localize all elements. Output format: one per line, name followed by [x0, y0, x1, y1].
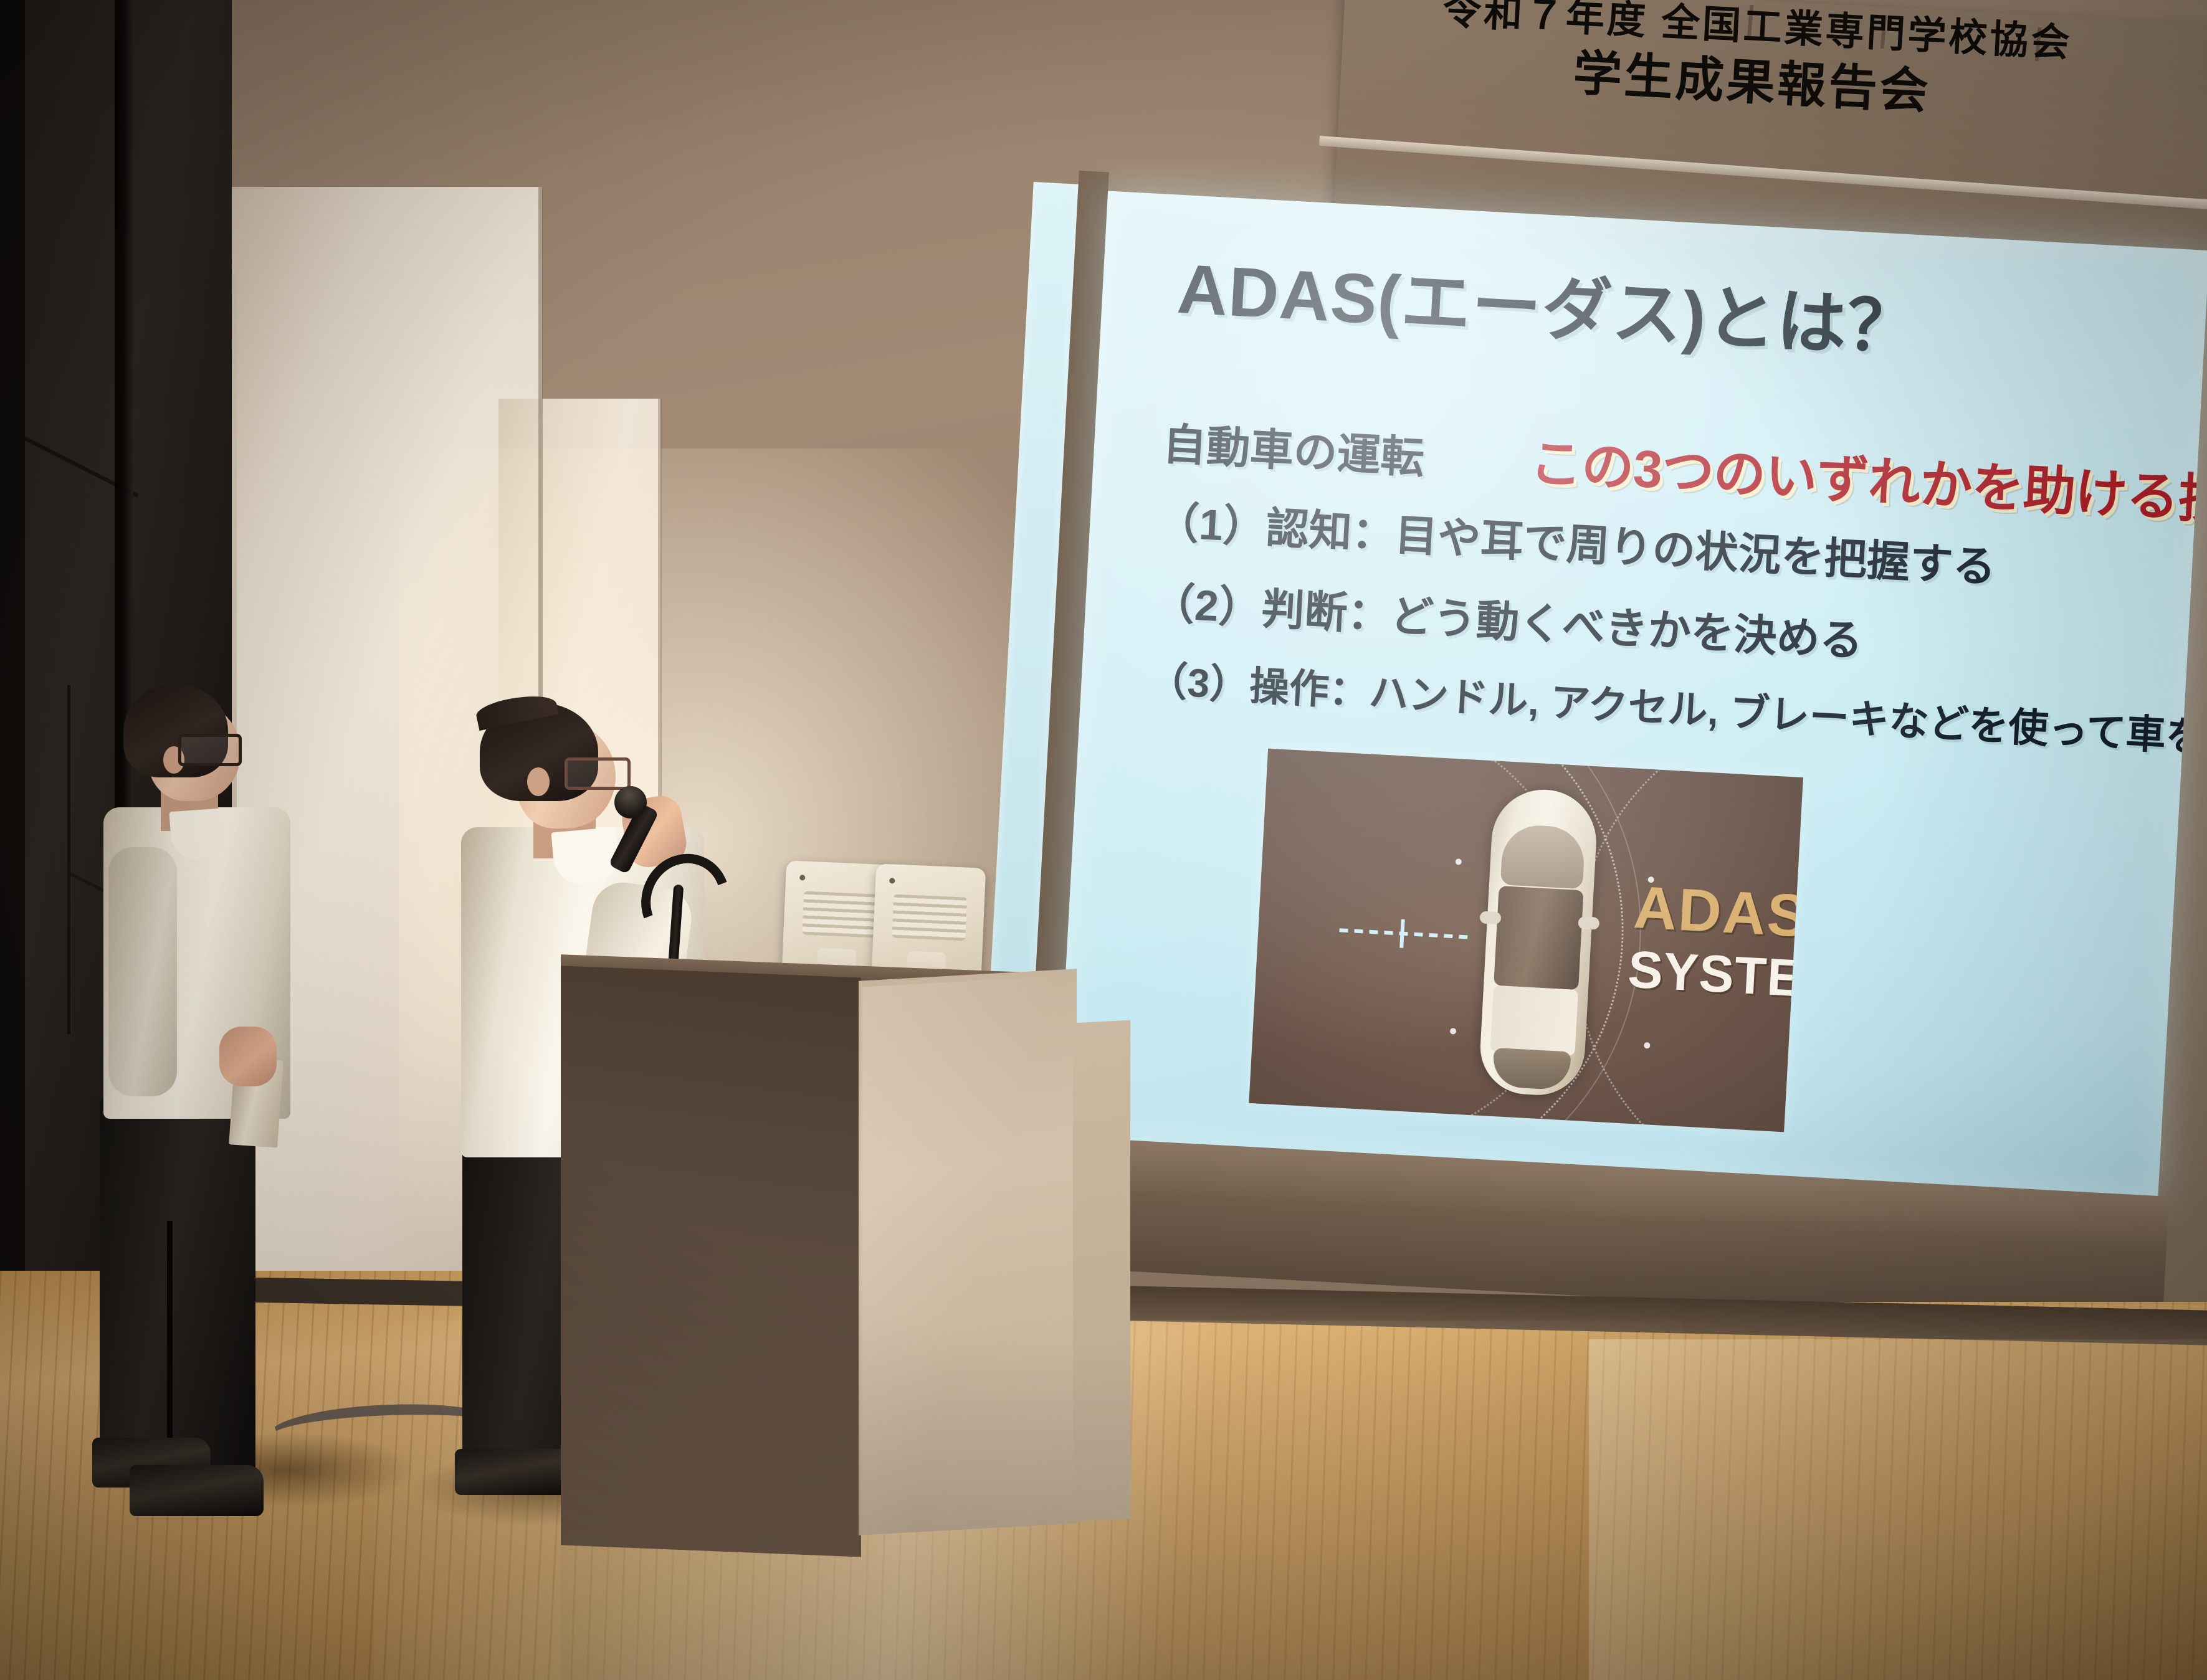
monitor-vent — [802, 891, 877, 938]
car-rear-roof — [1490, 985, 1578, 1056]
adas-system-illustration: ADAS SYSTEM — [1249, 749, 1803, 1132]
projection-screen: ADAS(エーダス)とは？ 自動車の運転 この3つのいずれかを助ける技術 （1）… — [1057, 191, 2207, 1198]
podium-side-panel — [561, 966, 861, 1557]
car-windshield — [1500, 823, 1586, 889]
trouser-seam — [167, 1221, 173, 1470]
trousers — [100, 1096, 255, 1470]
hand — [219, 1027, 277, 1086]
slide-title: ADAS(エーダス)とは？ — [1175, 232, 1920, 373]
shoe — [130, 1465, 264, 1516]
car-roof — [1494, 886, 1583, 990]
monitor-vent — [892, 895, 967, 941]
monitor-led — [799, 875, 805, 880]
car-rear-window — [1492, 1048, 1571, 1091]
slide-bullet-2: （2）判断：どう動くべきかを決める — [1150, 567, 1864, 668]
ear — [527, 767, 550, 796]
floor-reflection — [1589, 1339, 2207, 1680]
arm — [108, 847, 177, 1096]
car-mirror-right — [1578, 916, 1599, 930]
shoe — [455, 1449, 573, 1495]
curtain-fold — [67, 685, 70, 1034]
glasses-icon — [178, 734, 242, 766]
car-top-view-icon — [1478, 787, 1599, 1097]
presentation-photo: 令和７年度 全国工業専門学校協会 学生成果報告会 ADAS(エーダス)とは？ 自… — [0, 0, 2207, 1680]
monitor-led — [889, 878, 895, 883]
podium-highlight — [862, 975, 1073, 1535]
car-mirror-left — [1479, 911, 1501, 924]
podium-front-panel-2 — [1073, 1020, 1130, 1522]
adas-brand-text: ADAS — [1632, 873, 1803, 951]
glasses-icon — [565, 757, 631, 790]
slide-subtitle: 自動車の運転 — [1161, 409, 1426, 486]
adas-brand-subtext: SYSTEM — [1626, 939, 1803, 1011]
projection-screen-assembly: ADAS(エーダス)とは？ 自動車の運転 この3つのいずれかを助ける技術 （1）… — [980, 168, 2207, 1240]
